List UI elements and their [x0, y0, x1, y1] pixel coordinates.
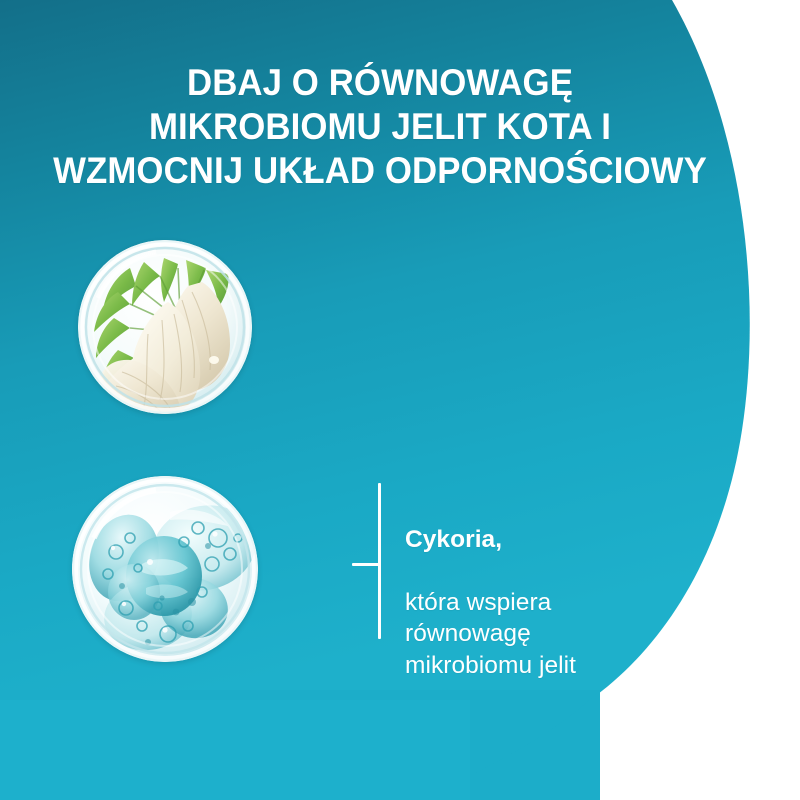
probiotic-bubbles-photo: [72, 476, 258, 662]
ingredient-row-cykoria: Cykoria, która wspiera równowagę mikrobi…: [78, 240, 252, 414]
chicory-root-photo: [78, 240, 252, 414]
poster-root: DBAJ O RÓWNOWAGĘ MIKROBIOMU JELIT KOTA I…: [0, 0, 800, 800]
page-title: DBAJ O RÓWNOWAGĘ MIKROBIOMU JELIT KOTA I…: [23, 61, 737, 193]
connector-vertical-bar: [378, 483, 381, 639]
ingredient-description-cykoria: która wspiera równowagę mikrobiomu jelit: [405, 587, 735, 682]
ingredient-row-lactobacillus: Lactobacillus, który ma udowodnione dzia…: [72, 476, 258, 662]
connector-horizontal-tick: [352, 563, 381, 566]
connector-bracket-cykoria: [352, 483, 388, 639]
ingredient-name-cykoria: Cykoria,: [405, 524, 735, 556]
ingredient-text-cykoria: Cykoria, która wspiera równowagę mikrobi…: [405, 492, 735, 713]
